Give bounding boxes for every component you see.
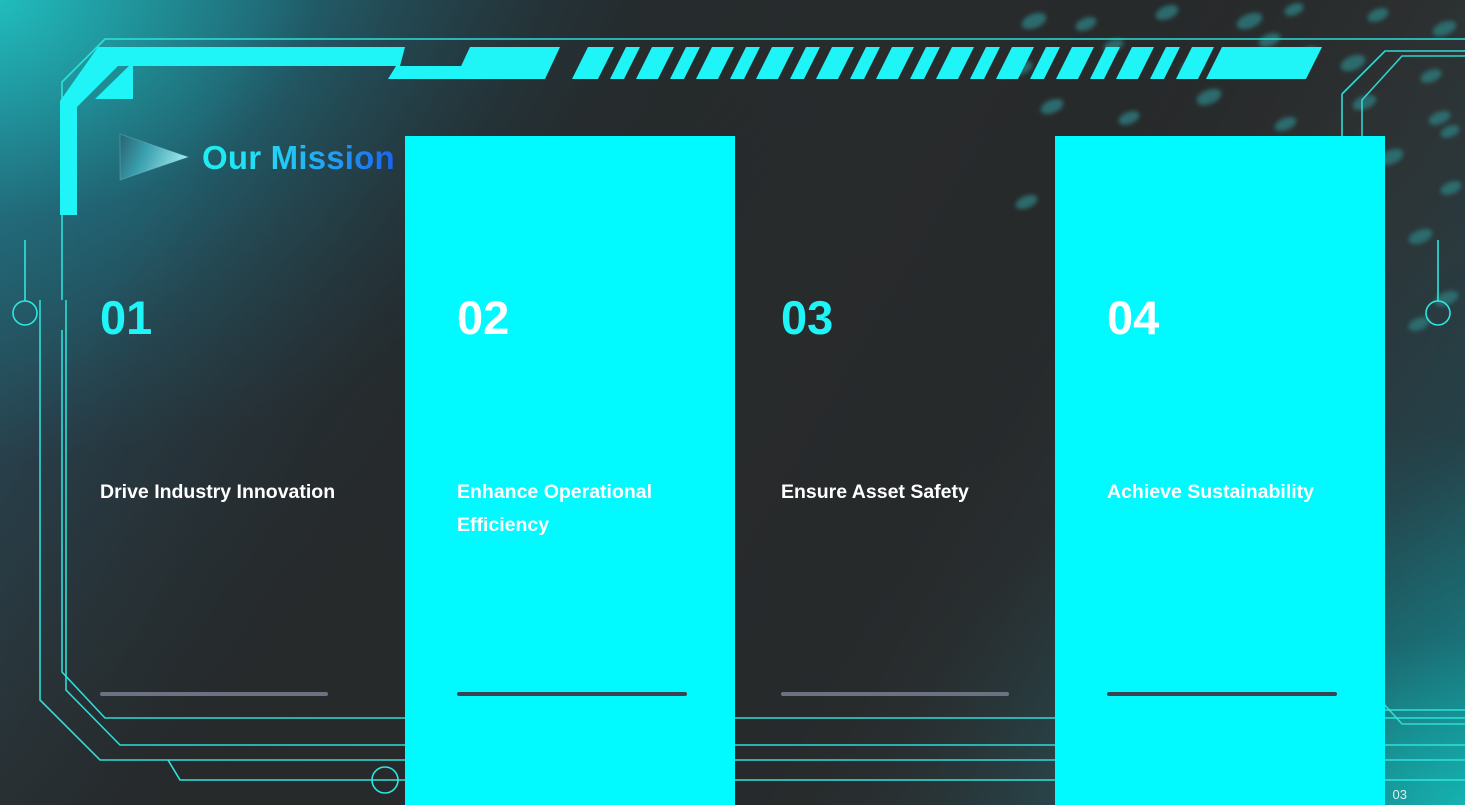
page-title: Our Mission xyxy=(202,141,395,174)
card-divider xyxy=(1107,692,1337,696)
card-title: Ensure Asset Safety xyxy=(781,476,1031,509)
card-number: 03 xyxy=(781,294,833,341)
card-number: 01 xyxy=(100,294,152,341)
card-title: Enhance Operational Efficiency xyxy=(457,476,687,542)
card-divider xyxy=(100,692,328,696)
mission-card-02[interactable]: 02 Enhance Operational Efficiency xyxy=(405,136,735,805)
mission-card-04[interactable]: 04 Achieve Sustainability xyxy=(1055,136,1385,805)
slide-title-row: Our Mission xyxy=(118,131,395,183)
card-divider xyxy=(457,692,687,696)
play-triangle-icon xyxy=(118,128,190,186)
card-number: 02 xyxy=(457,294,509,341)
card-number: 04 xyxy=(1107,294,1159,341)
card-title: Achieve Sustainability xyxy=(1107,476,1337,509)
card-divider xyxy=(781,692,1009,696)
page-number: 03 xyxy=(1393,787,1407,802)
mission-card-list: 01 Drive Industry Innovation 02 Enhance … xyxy=(0,0,1465,805)
mission-card-01[interactable]: 01 Drive Industry Innovation xyxy=(100,136,405,805)
slide-canvas: 01 Drive Industry Innovation 02 Enhance … xyxy=(0,0,1465,805)
card-title: Drive Industry Innovation xyxy=(100,476,340,509)
mission-card-03[interactable]: 03 Ensure Asset Safety xyxy=(735,136,1055,805)
